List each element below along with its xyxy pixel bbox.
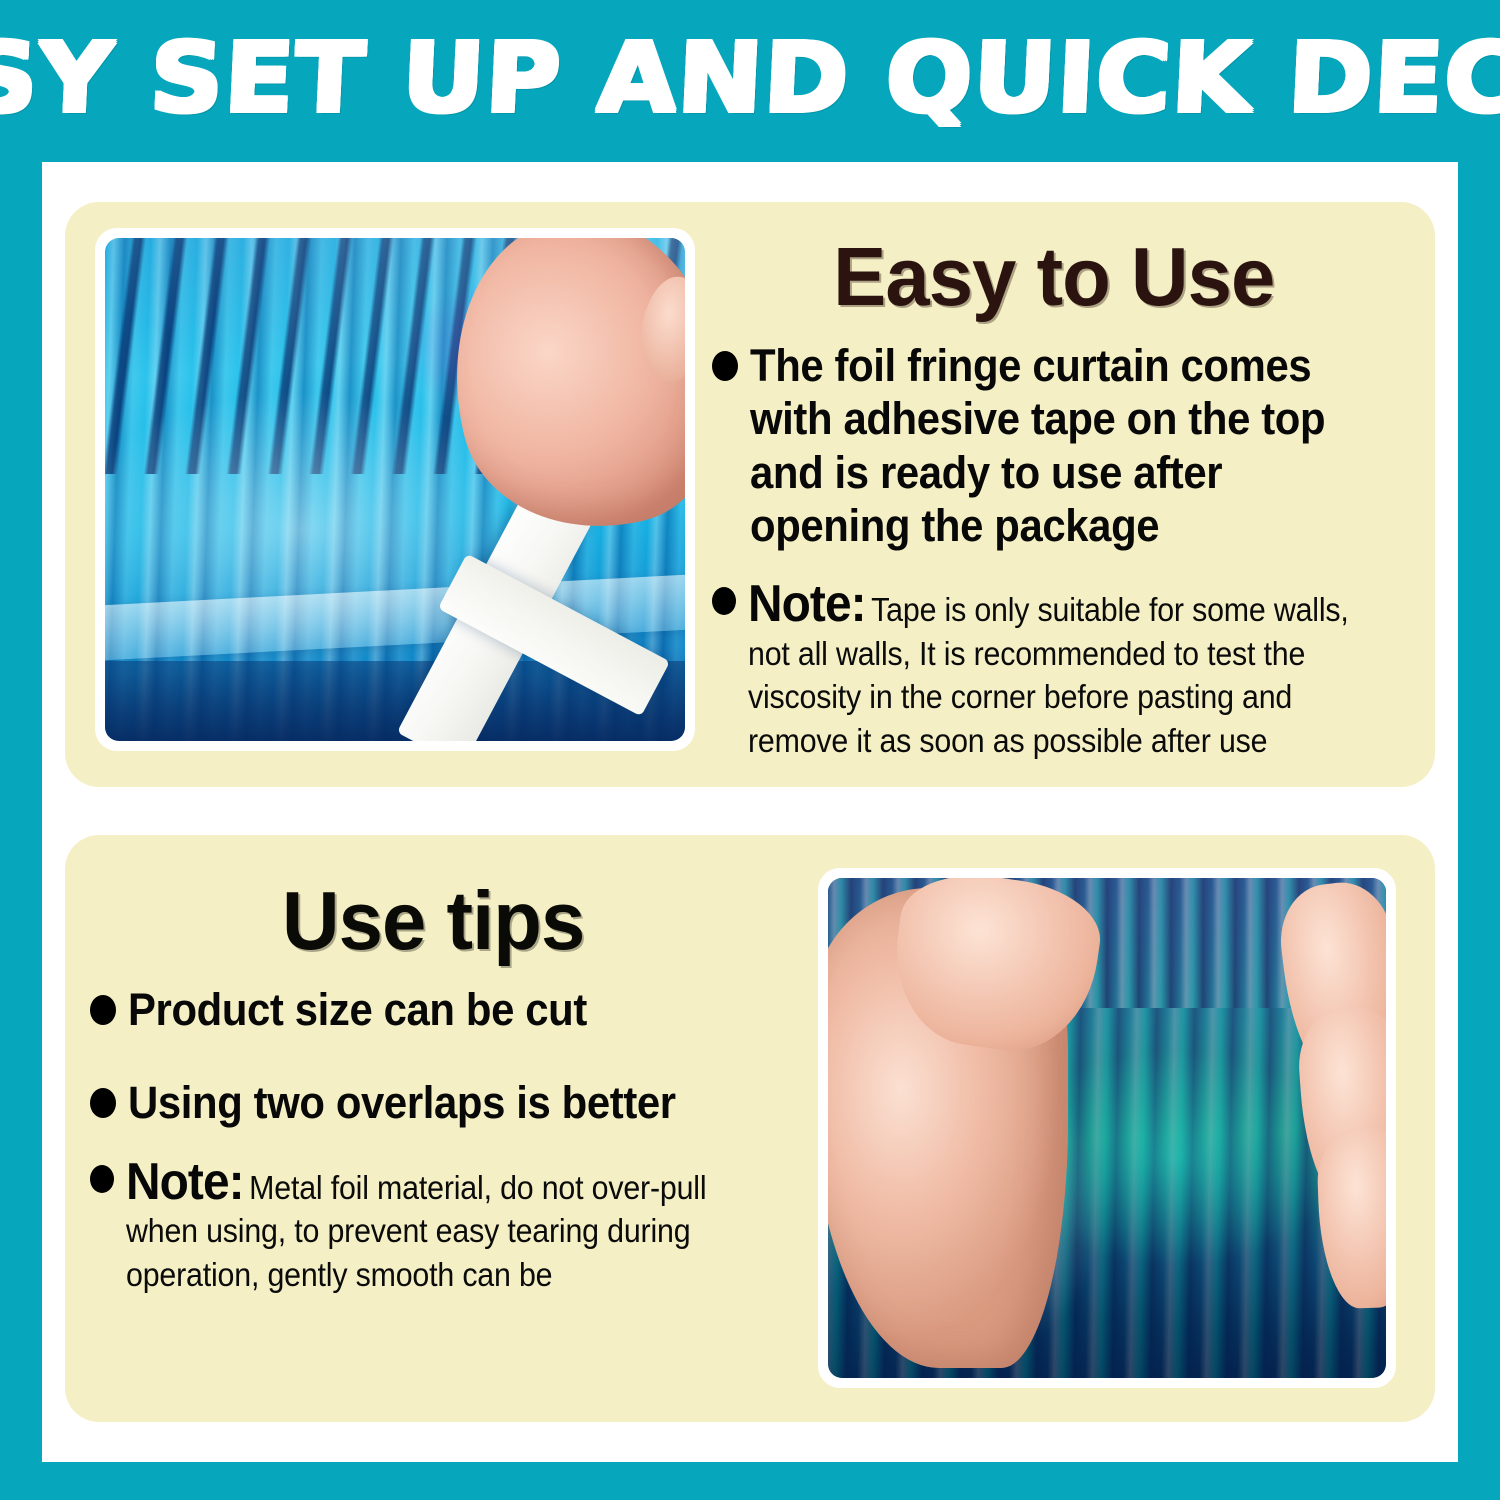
- bullet-item: The foil fringe curtain comes with adhes…: [712, 339, 1424, 551]
- text-block-use-tips: Use tips Product size can be cut Using t…: [90, 880, 805, 1297]
- bullet-dot-icon: [90, 995, 116, 1025]
- section-title-use-tips: Use tips: [90, 880, 776, 961]
- bullet-dot-icon: [90, 1088, 116, 1118]
- note-body: Note:Tape is only suitable for some wall…: [748, 578, 1370, 764]
- bullet-text: Using two overlaps is better: [128, 1076, 758, 1129]
- text-block-easy-to-use: Easy to Use The foil fringe curtain come…: [712, 236, 1424, 763]
- bullet-text: Product size can be cut: [128, 983, 758, 1036]
- bullet-text: The foil fringe curtain comes with adhes…: [750, 339, 1377, 551]
- bullet-item: Product size can be cut: [90, 983, 805, 1036]
- bullet-dot-icon: [712, 587, 736, 615]
- banner-title: EASY SET UP AND QUICK DECOR: [0, 30, 1500, 132]
- bullet-dot-icon: [90, 1165, 114, 1193]
- bullet-dot-icon: [712, 351, 738, 381]
- thumb-icon: [637, 273, 685, 385]
- note-item-use-tips: Note:Metal foil material, do not over-pu…: [90, 1156, 805, 1298]
- photo-tape-peel: [105, 238, 685, 741]
- photo-frame-tape-peel: [95, 228, 695, 751]
- note-label: Note:: [126, 1153, 244, 1211]
- section-title-easy-to-use: Easy to Use: [712, 236, 1396, 317]
- header-banner: EASY SET UP AND QUICK DECOR: [0, 0, 1500, 162]
- photo-hand-fringe: [828, 878, 1386, 1378]
- bullet-item: Using two overlaps is better: [90, 1076, 805, 1129]
- photo-frame-hand-fringe: [818, 868, 1396, 1388]
- poster-root: EASY SET UP AND QUICK DECOR Easy to Use …: [0, 0, 1500, 1500]
- note-label: Note:: [748, 575, 866, 633]
- note-item-easy-to-use: Note:Tape is only suitable for some wall…: [712, 578, 1424, 764]
- note-body: Note:Metal foil material, do not over-pu…: [126, 1156, 751, 1298]
